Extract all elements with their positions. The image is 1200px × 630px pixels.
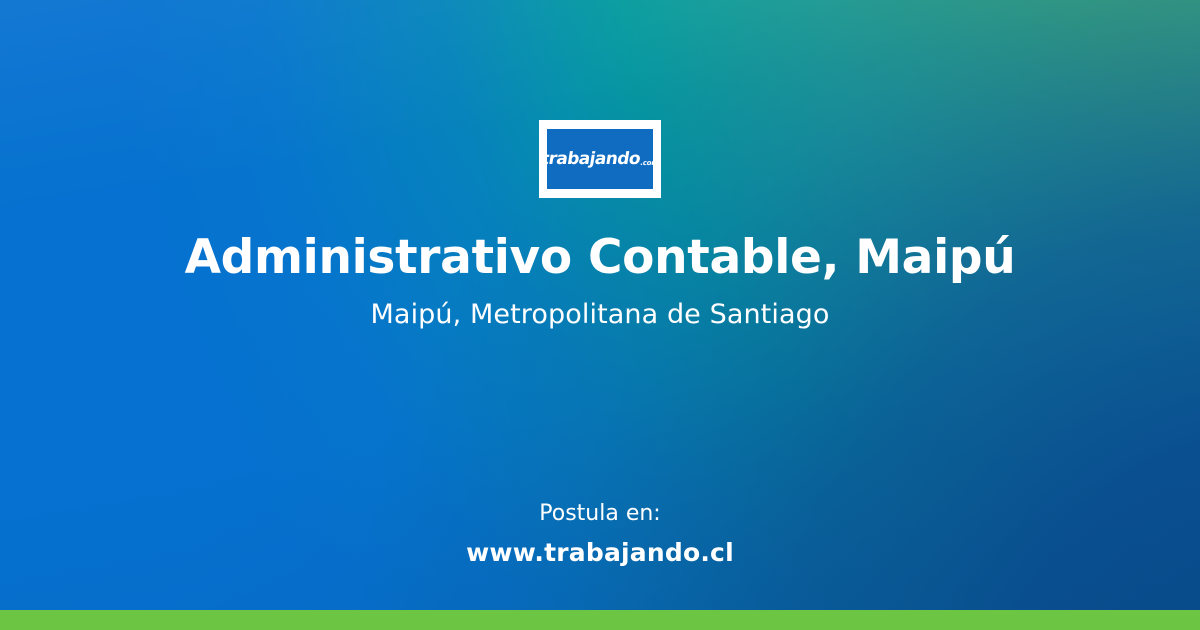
logo-word-text: trabajando (540, 151, 642, 168)
logo-tld-text: .com (640, 160, 659, 167)
logo-inner-panel: trabajando .com (547, 129, 653, 189)
job-title: Administrativo Contable, Maipú (40, 232, 1160, 285)
job-share-card: trabajando .com Administrativo Contable,… (0, 0, 1200, 630)
cta-label: Postula en: (0, 500, 1200, 528)
trabajando-logo: trabajando .com (539, 120, 661, 198)
job-location: Maipú, Metropolitana de Santiago (40, 299, 1160, 331)
cta-website-link[interactable]: www.trabajando.cl (466, 538, 734, 568)
call-to-action-block: Postula en: www.trabajando.cl (0, 500, 1200, 568)
bottom-accent-bar (0, 610, 1200, 630)
logo-wordmark: trabajando .com (540, 151, 661, 168)
card-content: trabajando .com Administrativo Contable,… (0, 0, 1200, 630)
headline-block: Administrativo Contable, Maipú Maipú, Me… (0, 232, 1200, 331)
